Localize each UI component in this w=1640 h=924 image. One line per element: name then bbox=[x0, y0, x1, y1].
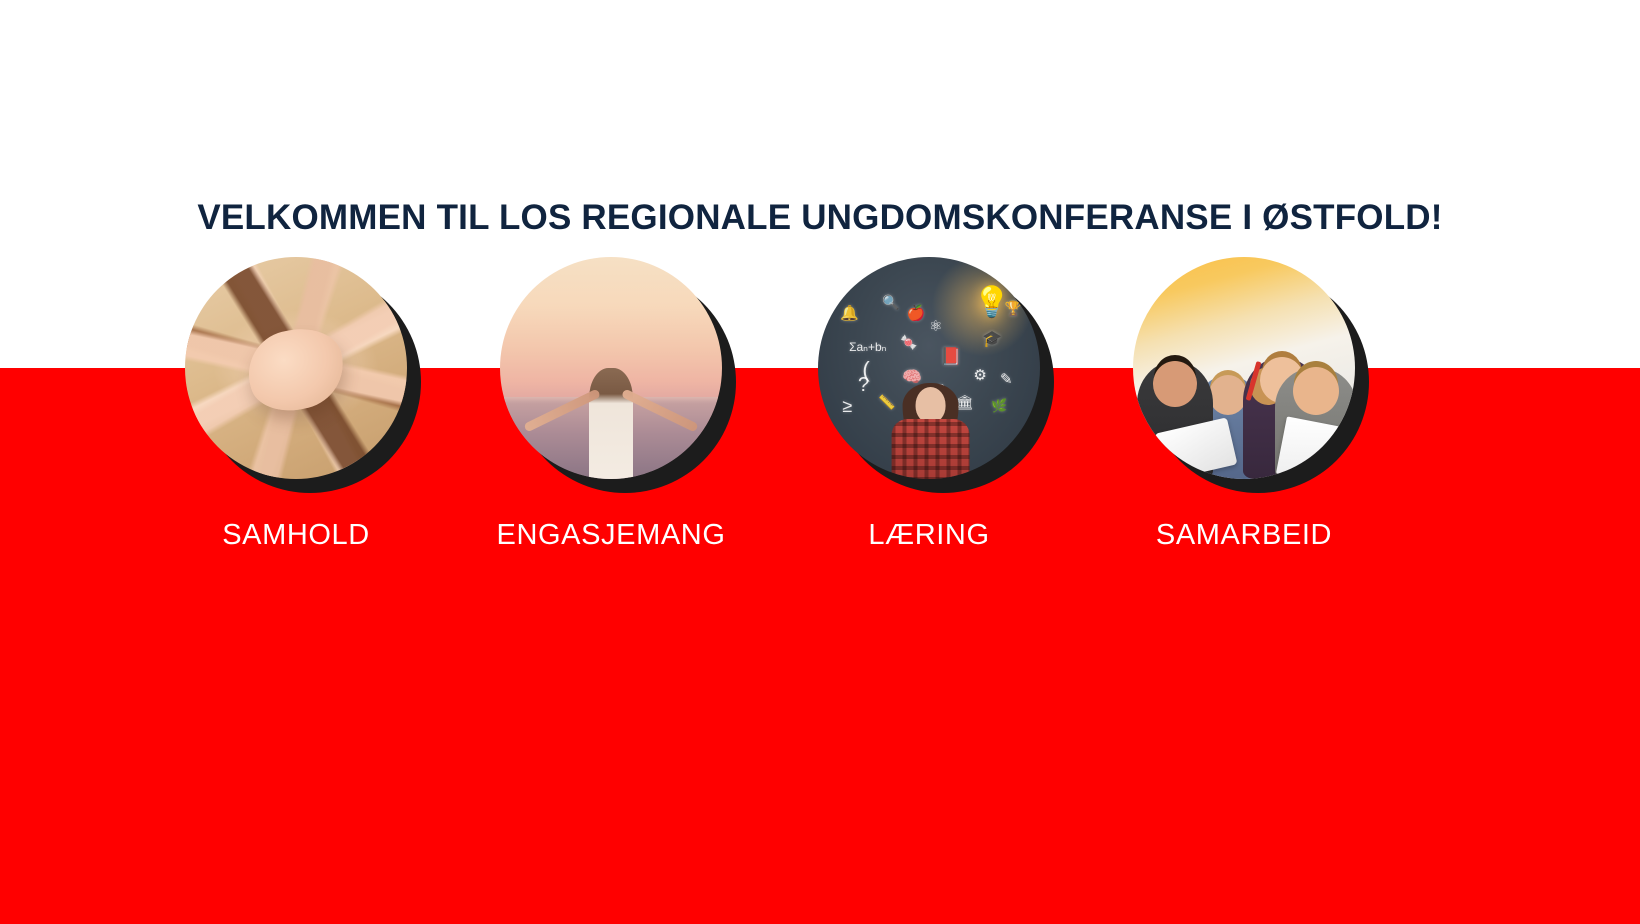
card-label-samhold: SAMHOLD bbox=[125, 519, 467, 552]
card-laering[interactable]: 💡 Σaₙ+bₙ ? ≥ ( 🔔 🔍 🍎 ⚛ 🍬 📕 🎓 🧠 ⚙ ✎ 📏 bbox=[818, 257, 1040, 479]
outstretched-arms-shape bbox=[517, 362, 705, 422]
magnifier-icon: 🔍 bbox=[882, 295, 899, 309]
greater-equal-icon: ≥ bbox=[842, 397, 852, 415]
sum-formula-icon: Σaₙ+bₙ bbox=[849, 341, 886, 353]
card-samhold[interactable]: SAMHOLD bbox=[185, 257, 407, 479]
card-list: SAMHOLD ENGASJEMANG 💡 Σaₙ+bₙ ? ≥ bbox=[0, 0, 1640, 924]
page-root: VELKOMMEN TIL LOS REGIONALE UNGDOMSKONFE… bbox=[0, 0, 1640, 924]
hands-stacked-teamwork-photo bbox=[185, 257, 407, 479]
leaf-icon: 🌿 bbox=[991, 399, 1007, 412]
card-label-laering: LÆRING bbox=[758, 519, 1100, 552]
students-collaborating-laptop-photo bbox=[1133, 257, 1355, 479]
question-mark-icon: ? bbox=[858, 375, 869, 395]
lightbulb-icon: 💡 bbox=[973, 288, 1010, 318]
book-icon: 📕 bbox=[940, 348, 961, 365]
parenthesis-icon: ( bbox=[862, 359, 869, 381]
pencil-icon: ✎ bbox=[1000, 372, 1013, 387]
woman-arms-outstretched-sunset-photo bbox=[500, 257, 722, 479]
page-title: VELKOMMEN TIL LOS REGIONALE UNGDOMSKONFE… bbox=[0, 198, 1640, 238]
atom-icon: ⚛ bbox=[929, 319, 942, 334]
card-label-samarbeid: SAMARBEID bbox=[1073, 519, 1415, 552]
graduation-cap-icon: 🎓 bbox=[982, 332, 1002, 348]
gear-icon: ⚙ bbox=[973, 368, 986, 383]
trophy-icon: 🏆 bbox=[1004, 301, 1021, 315]
candy-icon: 🍬 bbox=[900, 335, 917, 349]
student-figure bbox=[892, 387, 970, 479]
paper-sheet-shape bbox=[1276, 416, 1340, 479]
card-engasjemang[interactable]: ENGASJEMANG bbox=[500, 257, 722, 479]
student-chalkboard-ideas-photo: 💡 Σaₙ+bₙ ? ≥ ( 🔔 🔍 🍎 ⚛ 🍬 📕 🎓 🧠 ⚙ ✎ 📏 bbox=[818, 257, 1040, 479]
bell-icon: 🔔 bbox=[840, 306, 859, 321]
card-samarbeid[interactable]: SAMARBEID bbox=[1133, 257, 1355, 479]
apple-icon: 🍎 bbox=[907, 306, 926, 321]
card-label-engasjemang: ENGASJEMANG bbox=[440, 519, 782, 552]
